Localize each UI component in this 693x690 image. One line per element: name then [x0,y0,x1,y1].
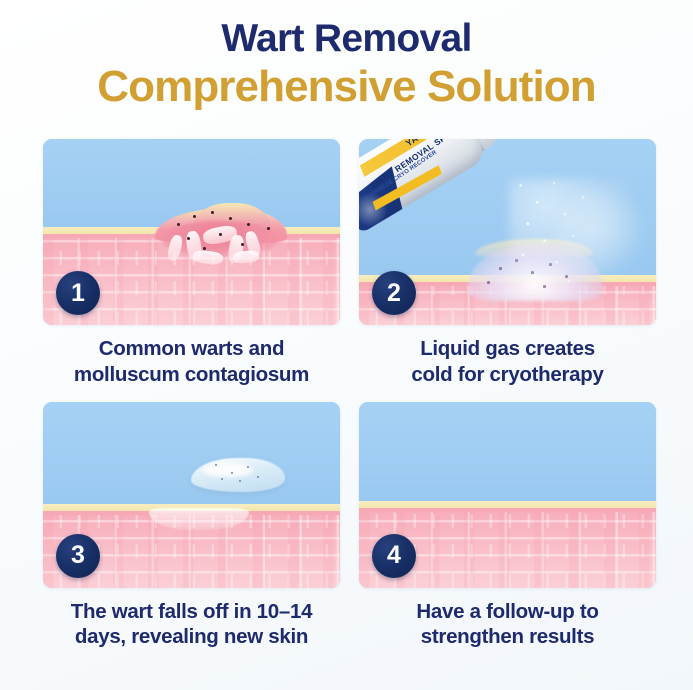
step-number-badge-1: 1 [56,271,100,315]
step-card-2: YAGOO WART REMOVAL SPRAY FREEZE CRYO REC… [359,139,656,388]
step-4-illustration: 4 [359,402,656,588]
step-3-caption-line1: The wart falls off in 10–14 [43,599,340,625]
step-1-caption-line2: molluscum contagiosum [43,362,340,388]
step-3-caption-line2: days, revealing new skin [43,624,340,650]
step-1-caption: Common warts and molluscum contagiosum [43,336,340,388]
step-4-caption-line1: Have a follow-up to [359,599,656,625]
step-3-illustration: 3 [43,402,340,588]
step-number-badge-3: 3 [56,534,100,578]
step-2-illustration: YAGOO WART REMOVAL SPRAY FREEZE CRYO REC… [359,139,656,325]
steps-grid: 1 Common warts and molluscum contagiosum [43,139,656,650]
flake-highlight [203,463,253,477]
step-card-4: 4 Have a follow-up to strengthen results [359,396,656,651]
step-4-caption-line2: strengthen results [359,624,656,650]
step-number-badge-4: 4 [372,534,416,578]
step-2-caption-line1: Liquid gas creates [359,336,656,362]
step-2-caption-line2: cold for cryotherapy [359,362,656,388]
page-title-primary: Wart Removal [0,18,693,60]
frost-speck [487,281,490,284]
page-title-secondary: Comprehensive Solution [0,62,693,111]
stratum-corneum-band [359,501,656,508]
step-2-caption: Liquid gas creates cold for cryotherapy [359,336,656,388]
step-4-caption: Have a follow-up to strengthen results [359,599,656,651]
step-1-caption-line1: Common warts and [43,336,340,362]
skin-surface-air [359,402,656,505]
spray-particles [499,171,619,291]
step-1-illustration: 1 [43,139,340,325]
step-3-caption: The wart falls off in 10–14 days, reveal… [43,599,340,651]
page-header: Wart Removal Comprehensive Solution [0,0,693,111]
step-card-1: 1 Common warts and molluscum contagiosum [43,139,340,388]
skin-surface-air [43,402,340,508]
step-card-3: 3 The wart falls off in 10–14 days, reve… [43,396,340,651]
step-number-badge-2: 2 [372,271,416,315]
